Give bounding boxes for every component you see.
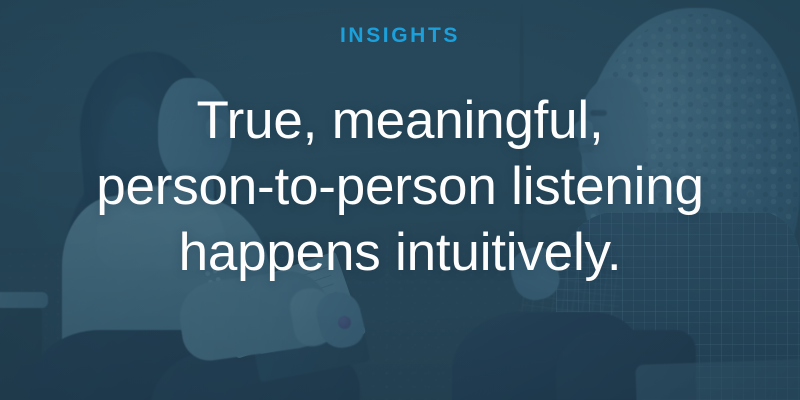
insights-quote-card: INSIGHTS True, meaningful, person-to-per… <box>0 0 800 400</box>
headline-line-1: True, meaningful, <box>20 88 780 154</box>
headline-line-3: happens intuitively. <box>20 220 780 286</box>
headline: True, meaningful, person-to-person liste… <box>20 88 780 286</box>
eyebrow-label: INSIGHTS <box>340 25 460 46</box>
headline-line-2: person-to-person listening <box>20 154 780 220</box>
text-content: INSIGHTS True, meaningful, person-to-per… <box>0 0 800 400</box>
